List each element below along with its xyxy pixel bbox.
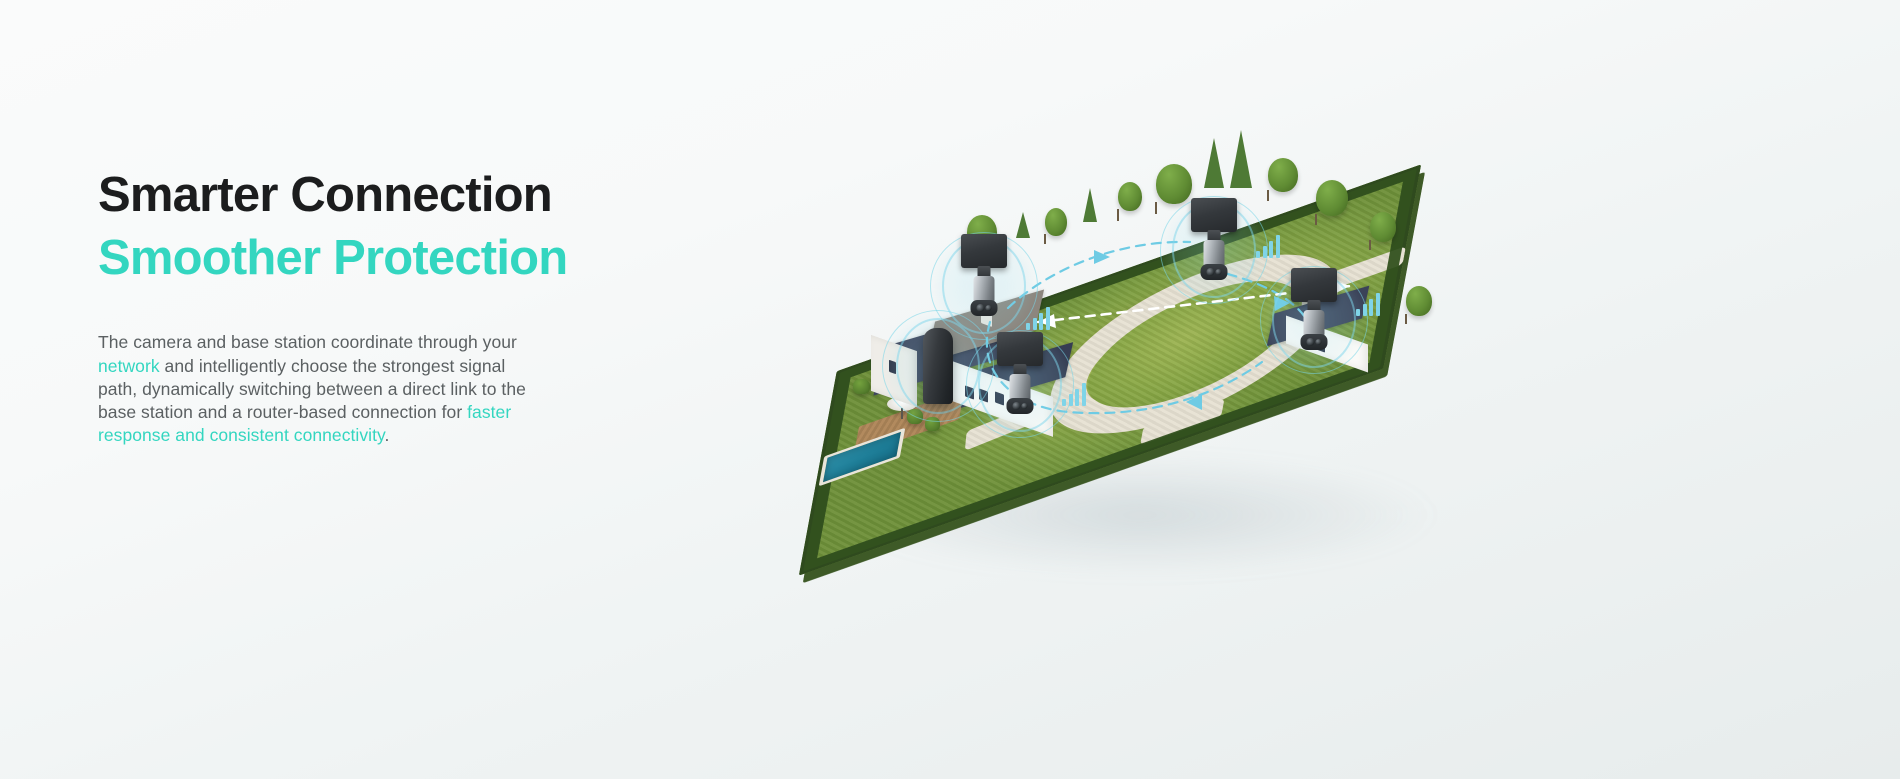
hero-section: Smarter Connection Smoother Protection T… xyxy=(0,0,1900,779)
camera-head xyxy=(1301,334,1328,350)
headline-line-1: Smarter Connection xyxy=(98,168,552,222)
camera-north-east[interactable] xyxy=(1156,192,1272,308)
hero-copy-block: Smarter Connection Smoother Protection T… xyxy=(98,164,658,448)
description-segment-3: . xyxy=(385,425,390,445)
camera-solar-panel xyxy=(961,234,1007,268)
camera-head xyxy=(971,300,998,316)
camera-head xyxy=(1201,264,1228,280)
camera-lens-icon xyxy=(986,305,992,311)
signal-strength-bars xyxy=(1062,382,1086,406)
camera-solar-panel xyxy=(1291,268,1337,302)
description-segment-1: The camera and base station coordinate t… xyxy=(98,332,517,352)
camera-lens-icon xyxy=(1022,403,1028,409)
signal-strength-bars xyxy=(1256,234,1280,258)
camera-lens-icon xyxy=(1013,402,1021,410)
camera-lens-icon xyxy=(1207,268,1215,276)
camera-lens-icon xyxy=(1307,338,1315,346)
camera-lens-icon xyxy=(1216,269,1222,275)
signal-strength-bars xyxy=(1356,292,1380,316)
headline-line-2: Smoother Protection xyxy=(98,231,567,285)
camera-lens-icon xyxy=(977,304,985,312)
description-highlight-network: network xyxy=(98,356,160,376)
link-direct-white xyxy=(690,100,1520,520)
camera-east[interactable] xyxy=(1256,262,1372,378)
camera-south[interactable] xyxy=(962,326,1078,442)
page-title: Smarter Connection Smoother Protection xyxy=(98,164,658,290)
smart-home-network-illustration xyxy=(690,100,1520,520)
camera-head xyxy=(1007,398,1034,414)
camera-lens-icon xyxy=(1316,339,1322,345)
camera-solar-panel xyxy=(997,332,1043,366)
hero-description: The camera and base station coordinate t… xyxy=(98,331,538,447)
camera-solar-panel xyxy=(1191,198,1237,232)
description-segment-2: and intelligently choose the strongest s… xyxy=(98,356,526,423)
